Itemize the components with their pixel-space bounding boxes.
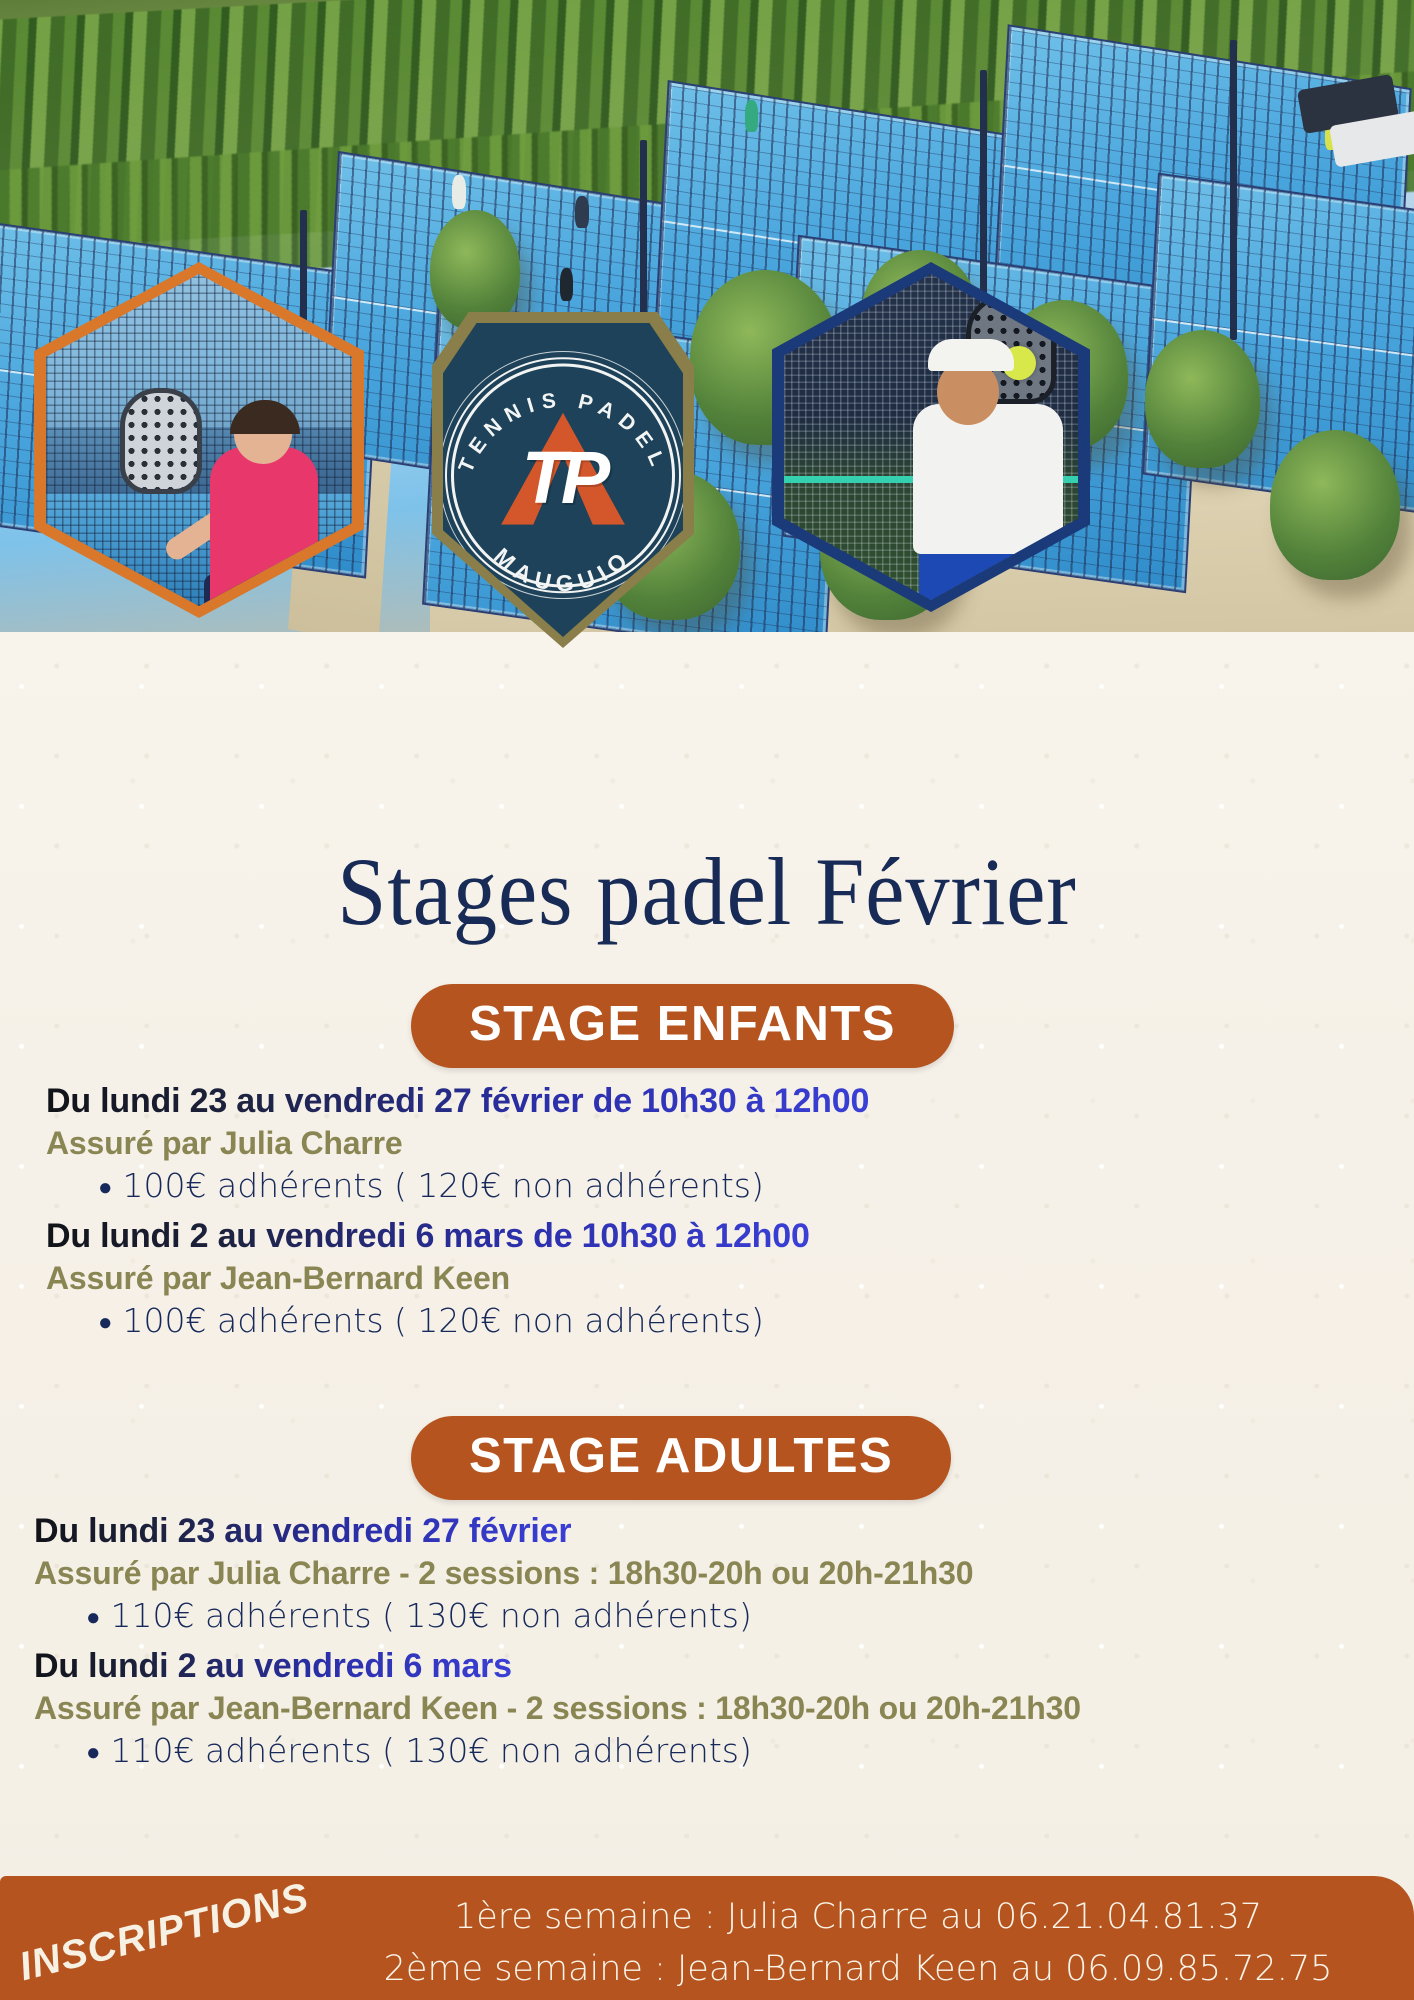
player-figure bbox=[575, 196, 589, 228]
club-logo: TENNIS PADEL MAUGUIO TP bbox=[432, 312, 694, 648]
coach-text: Assuré par Julia Charre bbox=[46, 1125, 402, 1161]
hex-photo-right-border bbox=[772, 262, 1090, 612]
hex-photo-left-image bbox=[46, 274, 352, 606]
club-logo-bottom-text: MAUGUIO bbox=[489, 543, 637, 597]
price-value: 100€ adhérents ( 120€ non adhérents) bbox=[123, 1301, 764, 1340]
price-text: ●110€ adhérents ( 130€ non adhérents) bbox=[86, 1596, 752, 1635]
section-adultes-body: Du lundi 23 au vendredi 27 février Assur… bbox=[34, 1512, 1414, 1774]
section-badge-enfants: STAGE ENFANTS bbox=[411, 984, 954, 1068]
bullet-icon: ● bbox=[98, 1308, 113, 1336]
inscriptions-label: INSCRIPTIONS bbox=[15, 1875, 314, 1990]
price-text: ●100€ adhérents ( 120€ non adhérents) bbox=[98, 1166, 764, 1205]
enfants-entry-1-coach: Assuré par Julia Charre bbox=[46, 1125, 1414, 1162]
bullet-icon: ● bbox=[86, 1738, 101, 1766]
fence-post bbox=[1230, 40, 1237, 340]
date-text: Du lundi 2 au vendredi 6 mars de 10h30 à… bbox=[46, 1217, 810, 1255]
hex-photo-left-border bbox=[34, 262, 364, 618]
price-text: ●110€ adhérents ( 130€ non adhérents) bbox=[86, 1731, 752, 1770]
inscriptions-contacts: 1ère semaine : Julia Charre au 06.21.04.… bbox=[330, 1892, 1386, 1996]
padel-racket-icon bbox=[120, 388, 202, 494]
hex-photo-left bbox=[34, 262, 364, 618]
adultes-entry-2-coach: Assuré par Jean-Bernard Keen - 2 session… bbox=[34, 1690, 1414, 1727]
enfants-entry-2-coach: Assuré par Jean-Bernard Keen bbox=[46, 1260, 1414, 1297]
date-text: Du lundi 2 au vendredi 6 mars bbox=[34, 1647, 512, 1685]
bullet-icon: ● bbox=[98, 1173, 113, 1201]
player-figure bbox=[560, 268, 573, 301]
svg-text:MAUGUIO: MAUGUIO bbox=[489, 543, 637, 597]
player-figure bbox=[452, 175, 466, 209]
contact-line-1: 1ère semaine : Julia Charre au 06.21.04.… bbox=[330, 1892, 1386, 1944]
section-enfants-body: Du lundi 23 au vendredi 27 février de 10… bbox=[46, 1082, 1414, 1344]
hex-photo-right bbox=[772, 262, 1090, 612]
enfants-entry-2-date: Du lundi 2 au vendredi 6 mars de 10h30 à… bbox=[46, 1217, 1414, 1256]
enfants-entry-2-price: ●100€ adhérents ( 120€ non adhérents) bbox=[98, 1301, 1414, 1340]
price-value: 100€ adhérents ( 120€ non adhérents) bbox=[123, 1166, 764, 1205]
player-figure bbox=[745, 100, 758, 132]
page-title: Stages padel Février bbox=[57, 836, 1358, 947]
tree bbox=[1145, 330, 1260, 468]
inscriptions-footer: INSCRIPTIONS 1ère semaine : Julia Charre… bbox=[0, 1876, 1414, 2000]
price-value: 110€ adhérents ( 130€ non adhérents) bbox=[111, 1731, 752, 1770]
date-text: Du lundi 23 au vendredi 27 février bbox=[34, 1512, 571, 1550]
price-text: ●100€ adhérents ( 120€ non adhérents) bbox=[98, 1301, 764, 1340]
club-logo-shield-outer: TENNIS PADEL MAUGUIO TP bbox=[432, 312, 694, 648]
club-logo-monogram: TP bbox=[483, 429, 643, 525]
club-logo-shield-inner: TENNIS PADEL MAUGUIO TP bbox=[443, 323, 683, 637]
hex-photo-right-image bbox=[784, 274, 1078, 600]
club-logo-monogram-mark: TP bbox=[483, 413, 643, 533]
section-badge-adultes: STAGE ADULTES bbox=[411, 1416, 951, 1500]
contact-line-2: 2ème semaine : Jean-Bernard Keen au 06.0… bbox=[330, 1944, 1386, 1996]
date-text: Du lundi 23 au vendredi 27 février de 10… bbox=[46, 1082, 869, 1120]
coach-text: Assuré par Julia Charre - 2 sessions : 1… bbox=[34, 1555, 973, 1591]
tree bbox=[1270, 430, 1400, 580]
adultes-entry-2-date: Du lundi 2 au vendredi 6 mars bbox=[34, 1647, 1414, 1686]
adultes-entry-1-date: Du lundi 23 au vendredi 27 février bbox=[34, 1512, 1414, 1551]
enfants-entry-1-price: ●100€ adhérents ( 120€ non adhérents) bbox=[98, 1166, 1414, 1205]
coach-text: Assuré par Jean-Bernard Keen bbox=[46, 1260, 510, 1296]
adultes-entry-1-price: ●110€ adhérents ( 130€ non adhérents) bbox=[86, 1596, 1414, 1635]
adultes-entry-2-price: ●110€ adhérents ( 130€ non adhérents) bbox=[86, 1731, 1414, 1770]
price-value: 110€ adhérents ( 130€ non adhérents) bbox=[111, 1596, 752, 1635]
adultes-entry-1-coach: Assuré par Julia Charre - 2 sessions : 1… bbox=[34, 1555, 1414, 1592]
enfants-entry-1-date: Du lundi 23 au vendredi 27 février de 10… bbox=[46, 1082, 1414, 1121]
coach-text: Assuré par Jean-Bernard Keen - 2 session… bbox=[34, 1690, 1081, 1726]
bullet-icon: ● bbox=[86, 1603, 101, 1631]
